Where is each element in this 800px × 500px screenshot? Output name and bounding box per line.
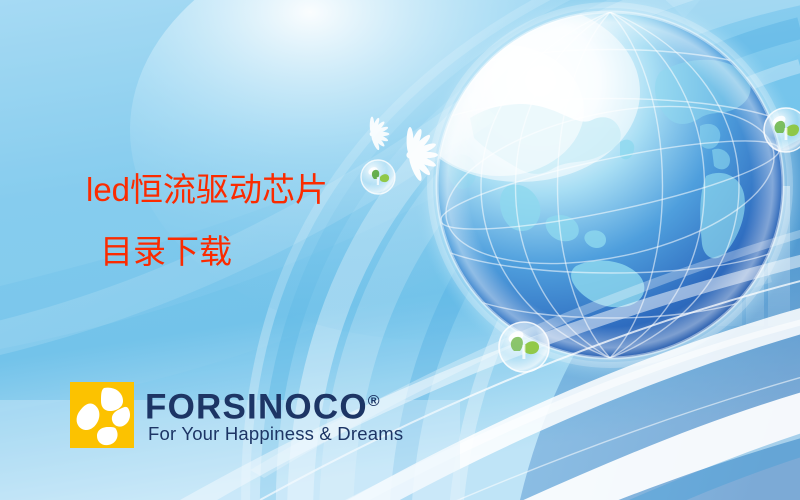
bubble-with-leaf-top bbox=[361, 160, 395, 194]
promo-banner: led恒流驱动芯片 目录下载 FORSINOCO® For Your Happi… bbox=[0, 0, 800, 500]
bottom-fade bbox=[0, 400, 460, 500]
bubble-with-leaf-bottom bbox=[499, 322, 549, 372]
bubble-with-leaf-right bbox=[764, 108, 800, 152]
banner-artwork bbox=[0, 0, 800, 500]
